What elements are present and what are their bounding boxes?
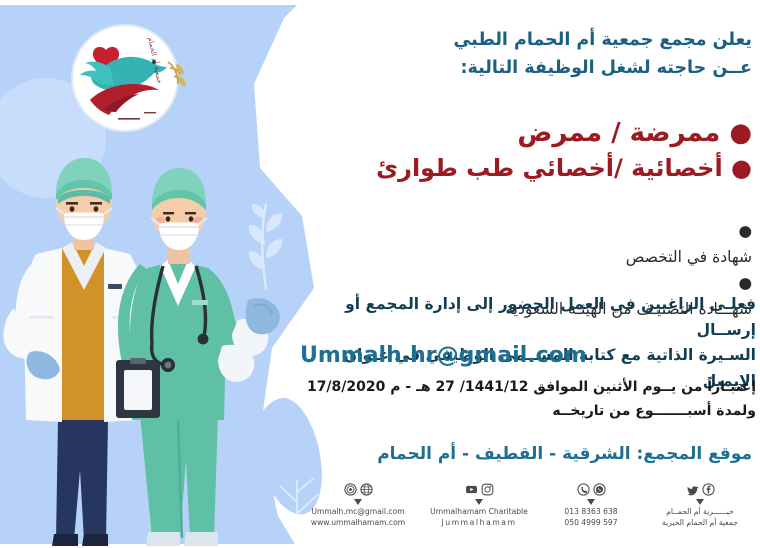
footer-group-email-web: Ummalh.mc@gmail.com www.ummalhamam.com — [296, 480, 420, 529]
job-list: ● ممرضة / ممرض ● أخصائية /أخصائي طب طوار… — [300, 118, 752, 183]
job-item-emergency-specialist: ● أخصائية /أخصائي طب طوارئ — [300, 154, 752, 183]
application-email-link[interactable]: Ummalh.hr@gmail.com — [300, 343, 752, 368]
footer-lines-email-web: Ummalh.mc@gmail.com www.ummalhamam.com — [296, 507, 420, 529]
requirement-item-1: ● شهادة في التخصص — [300, 218, 752, 270]
footer-social-handle-arabic[interactable]: خيــــــرية أم الحمــام — [640, 507, 760, 518]
footer-icons-social — [640, 480, 760, 498]
pointer-caret — [354, 499, 362, 505]
job-bullet: ● — [729, 118, 752, 148]
footer-website-url[interactable]: www.ummalhamam.com — [296, 518, 420, 529]
headline-line-1: يعلن مجمع جمعية أم الحمام الطبي — [300, 26, 752, 54]
job-item-emergency-specialist-label: أخصائية /أخصائي طب طوارئ — [376, 154, 723, 182]
pointer-caret — [696, 499, 704, 505]
poster-top-border — [0, 0, 760, 5]
ummalhamam-charity-logo: جمعية أم الحمام — [58, 22, 192, 134]
footer-group-social-video: Ummalhamam Charitable Jummalhamam — [420, 480, 538, 529]
clinic-location: موقع المجمع: الشرقية - القطيف - أم الحما… — [300, 444, 752, 464]
footer-lines-social-video: Ummalhamam Charitable Jummalhamam — [420, 507, 538, 529]
phone-icon[interactable] — [577, 483, 590, 496]
glove-right-raised — [246, 298, 280, 334]
twitter-icon[interactable] — [686, 483, 699, 496]
page-title: يعلن مجمع جمعية أم الحمام الطبي عــن حاج… — [300, 26, 752, 83]
job-item-nurse: ● ممرضة / ممرض — [300, 118, 752, 150]
male-nurse-green-scrubs — [116, 168, 280, 546]
instructions-line-1: فعلـى الراغبين في العمل الحضور إلى إدارة… — [296, 292, 756, 343]
application-period: إعتبـاراً من يــوم الأثنين الموافق 1441/… — [296, 376, 756, 424]
footer-icons-email-web — [296, 480, 420, 498]
footer-group-phones: 013 8363 638 050 4999 597 — [536, 480, 646, 529]
requirement-bullet: ● — [300, 218, 752, 244]
whatsapp-icon[interactable] — [593, 483, 606, 496]
footer-handle[interactable]: Jummalhamam — [420, 518, 538, 529]
facebook-icon[interactable] — [702, 483, 715, 496]
pointer-caret — [475, 499, 483, 505]
email-at-icon[interactable] — [344, 483, 357, 496]
application-duration: ولمدة أسبـــــــوع من تاريخــه — [296, 400, 756, 424]
footer-lines-phones: 013 8363 638 050 4999 597 — [536, 507, 646, 529]
footer-organization-name-arabic[interactable]: جمعية أم الحمام الخيرية — [640, 518, 760, 529]
footer-email-address[interactable]: Ummalh.mc@gmail.com — [296, 507, 420, 518]
two-medical-staff-illustration — [0, 120, 300, 548]
footer-icons-social-video — [420, 480, 538, 498]
footer-icons-phones — [536, 480, 646, 498]
requirement-item-1-label: شهادة في التخصص — [300, 244, 752, 270]
job-vacancy-poster: جمعية أم الحمام — [0, 0, 760, 548]
name-badge-right — [192, 300, 208, 305]
footer-lines-social: خيــــــرية أم الحمــام جمعية أم الحمام … — [640, 507, 760, 529]
footer-contact-strip: Ummalh.mc@gmail.com www.ummalhamam.com U… — [296, 480, 760, 540]
pointer-caret — [587, 499, 595, 505]
footer-group-social-twitter-facebook: خيــــــرية أم الحمــام جمعية أم الحمام … — [640, 480, 760, 529]
footer-channel-name[interactable]: Ummalhamam Charitable — [420, 507, 538, 518]
youtube-icon[interactable] — [465, 483, 478, 496]
globe-icon[interactable] — [360, 483, 373, 496]
instagram-icon[interactable] — [481, 483, 494, 496]
footer-phone-landline[interactable]: 013 8363 638 — [536, 507, 646, 518]
job-bullet: ● — [731, 154, 752, 182]
job-item-nurse-label: ممرضة / ممرض — [517, 118, 720, 148]
footer-phone-mobile[interactable]: 050 4999 597 — [536, 518, 646, 529]
application-start-date: إعتبـاراً من يــوم الأثنين الموافق 1441/… — [296, 376, 756, 400]
name-badge-left — [108, 284, 122, 289]
headline-line-2: عــن حاجته لشغل الوظيفة التالية: — [300, 54, 752, 82]
